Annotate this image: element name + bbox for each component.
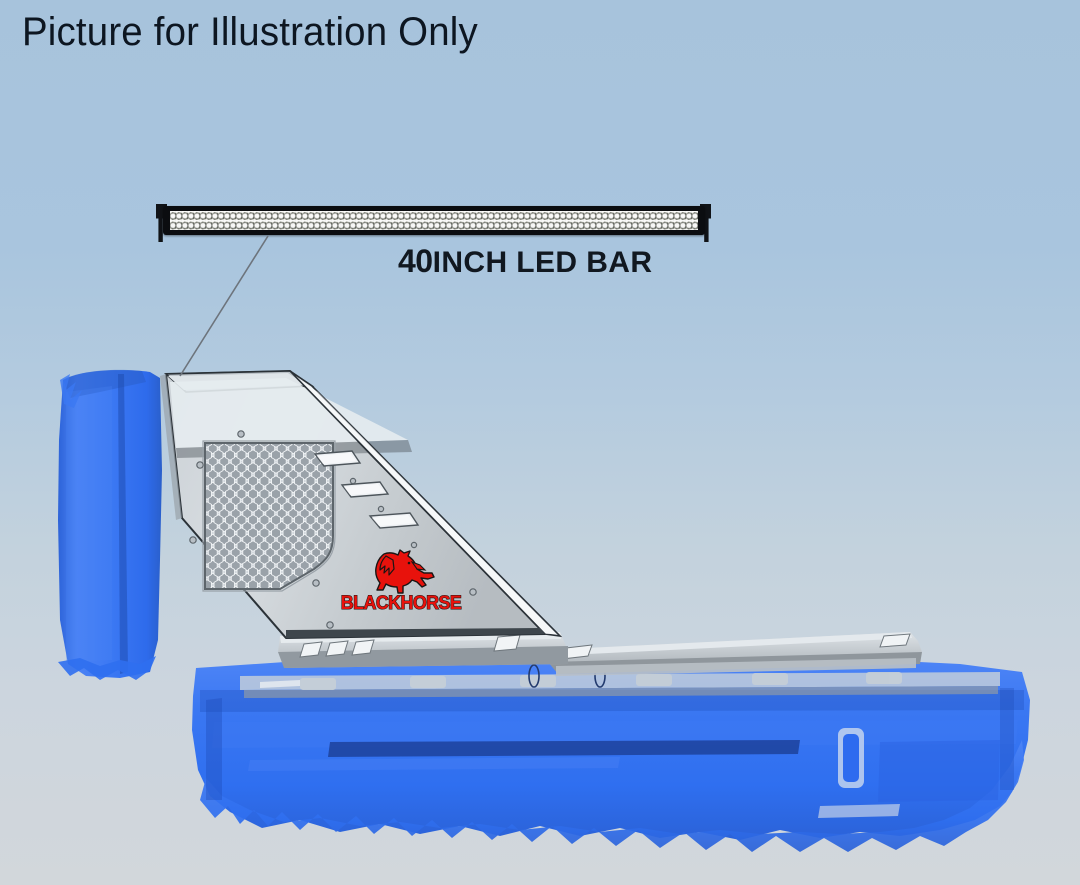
blackhorse-logo: BLACKHORSE (336, 548, 466, 620)
led-light-bar (155, 200, 715, 248)
cab-guard (160, 371, 568, 668)
led-bar-size-number: 40 (398, 243, 433, 279)
page-title: Picture for Illustration Only (22, 10, 478, 55)
led-bar-housing (163, 206, 705, 235)
blackhorse-wordmark: BLACKHORSE (340, 593, 462, 615)
led-bar-callout-label: 40INCH LED BAR (398, 243, 652, 280)
led-bar-lens (170, 211, 698, 230)
illustration-canvas: 40INCH LED BAR BLACKHORSE Picture for Il… (0, 0, 1080, 885)
product-illustration (0, 0, 1080, 885)
rearing-horse-icon (364, 548, 442, 598)
led-bar-size-unit: INCH LED BAR (433, 246, 653, 279)
